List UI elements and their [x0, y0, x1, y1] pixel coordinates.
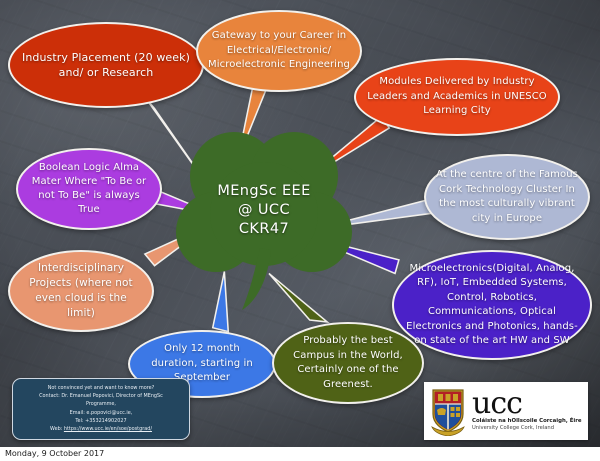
bubble-microelectronics-text: Microelectronics(Digital, Analog, RF), I… — [394, 262, 590, 349]
programme-title: MEngSc EEE @ UCC CKR47 — [176, 182, 352, 239]
bubble-green-campus-text: Probably the best Campus in the World, C… — [274, 334, 422, 392]
slide-footer: Monday, 9 October 2017 — [0, 447, 600, 461]
ucc-name-irish: Coláiste na hOllscoile Corcaigh, Éire — [472, 418, 582, 425]
contact-line-1: Not convinced yet and want to know more? — [17, 384, 185, 392]
bubble-industry-placement-text: Industry Placement (20 week) and/ or Res… — [10, 50, 202, 80]
bubble-interdisciplinary[interactable]: Interdisciplinary Projects (where not ev… — [8, 250, 154, 332]
ucc-wordmark-group: ucc Coláiste na hOllscoile Corcaigh, Éir… — [472, 390, 582, 432]
ucc-logo: ucc Coláiste na hOllscoile Corcaigh, Éir… — [424, 382, 588, 440]
contact-line-2: Contact: Dr. Emanuel Popovici, Director … — [17, 392, 185, 400]
ucc-crest-icon — [430, 386, 466, 436]
bubble-boolean-logic[interactable]: Boolean Logic Alma Mater Where "To Be or… — [16, 148, 162, 230]
bubble-boolean-logic-text: Boolean Logic Alma Mater Where "To Be or… — [18, 161, 160, 217]
footer-date: Monday, 9 October 2017 — [5, 449, 104, 458]
ucc-name-english: University College Cork, Ireland — [472, 425, 582, 432]
contact-web-label: Web: — [50, 426, 64, 432]
bubble-cork-technology-text: At the centre of the Famous Cork Technol… — [426, 168, 588, 226]
bubble-gateway-career[interactable]: Gateway to your Career in Electrical/Ele… — [196, 10, 362, 92]
bubble-gateway-career-text: Gateway to your Career in Electrical/Ele… — [198, 29, 360, 73]
contact-phone: Tel: +353214902027 — [17, 417, 185, 425]
contact-box: Not convinced yet and want to know more?… — [12, 378, 190, 440]
programme-title-line-2: @ UCC — [176, 201, 352, 220]
bubble-green-campus[interactable]: Probably the best Campus in the World, C… — [272, 322, 424, 404]
bubble-industry-placement[interactable]: Industry Placement (20 week) and/ or Res… — [8, 22, 204, 108]
presentation-slide: MEngSc EEE @ UCC CKR47 Industry Placemen… — [0, 0, 600, 447]
programme-title-line-1: MEngSc EEE — [176, 182, 352, 201]
bubble-microelectronics[interactable]: Microelectronics(Digital, Analog, RF), I… — [392, 250, 592, 360]
contact-web: Web: https://www.ucc.ie/en/soe/postgrad/ — [17, 425, 185, 433]
ucc-wordmark: ucc — [472, 390, 582, 418]
programme-title-line-3: CKR47 — [176, 220, 352, 239]
contact-email[interactable]: Email: e.popovici@ucc.ie, — [17, 409, 185, 417]
bubble-modules-delivered-text: Modules Delivered by Industry Leaders an… — [356, 75, 558, 119]
contact-line-3: Programme, — [17, 400, 185, 408]
bubble-interdisciplinary-text: Interdisciplinary Projects (where not ev… — [10, 261, 152, 321]
bubble-modules-delivered[interactable]: Modules Delivered by Industry Leaders an… — [354, 58, 560, 136]
contact-web-link[interactable]: https://www.ucc.ie/en/soe/postgrad/ — [64, 426, 152, 432]
bubble-cork-technology[interactable]: At the centre of the Famous Cork Technol… — [424, 154, 590, 240]
